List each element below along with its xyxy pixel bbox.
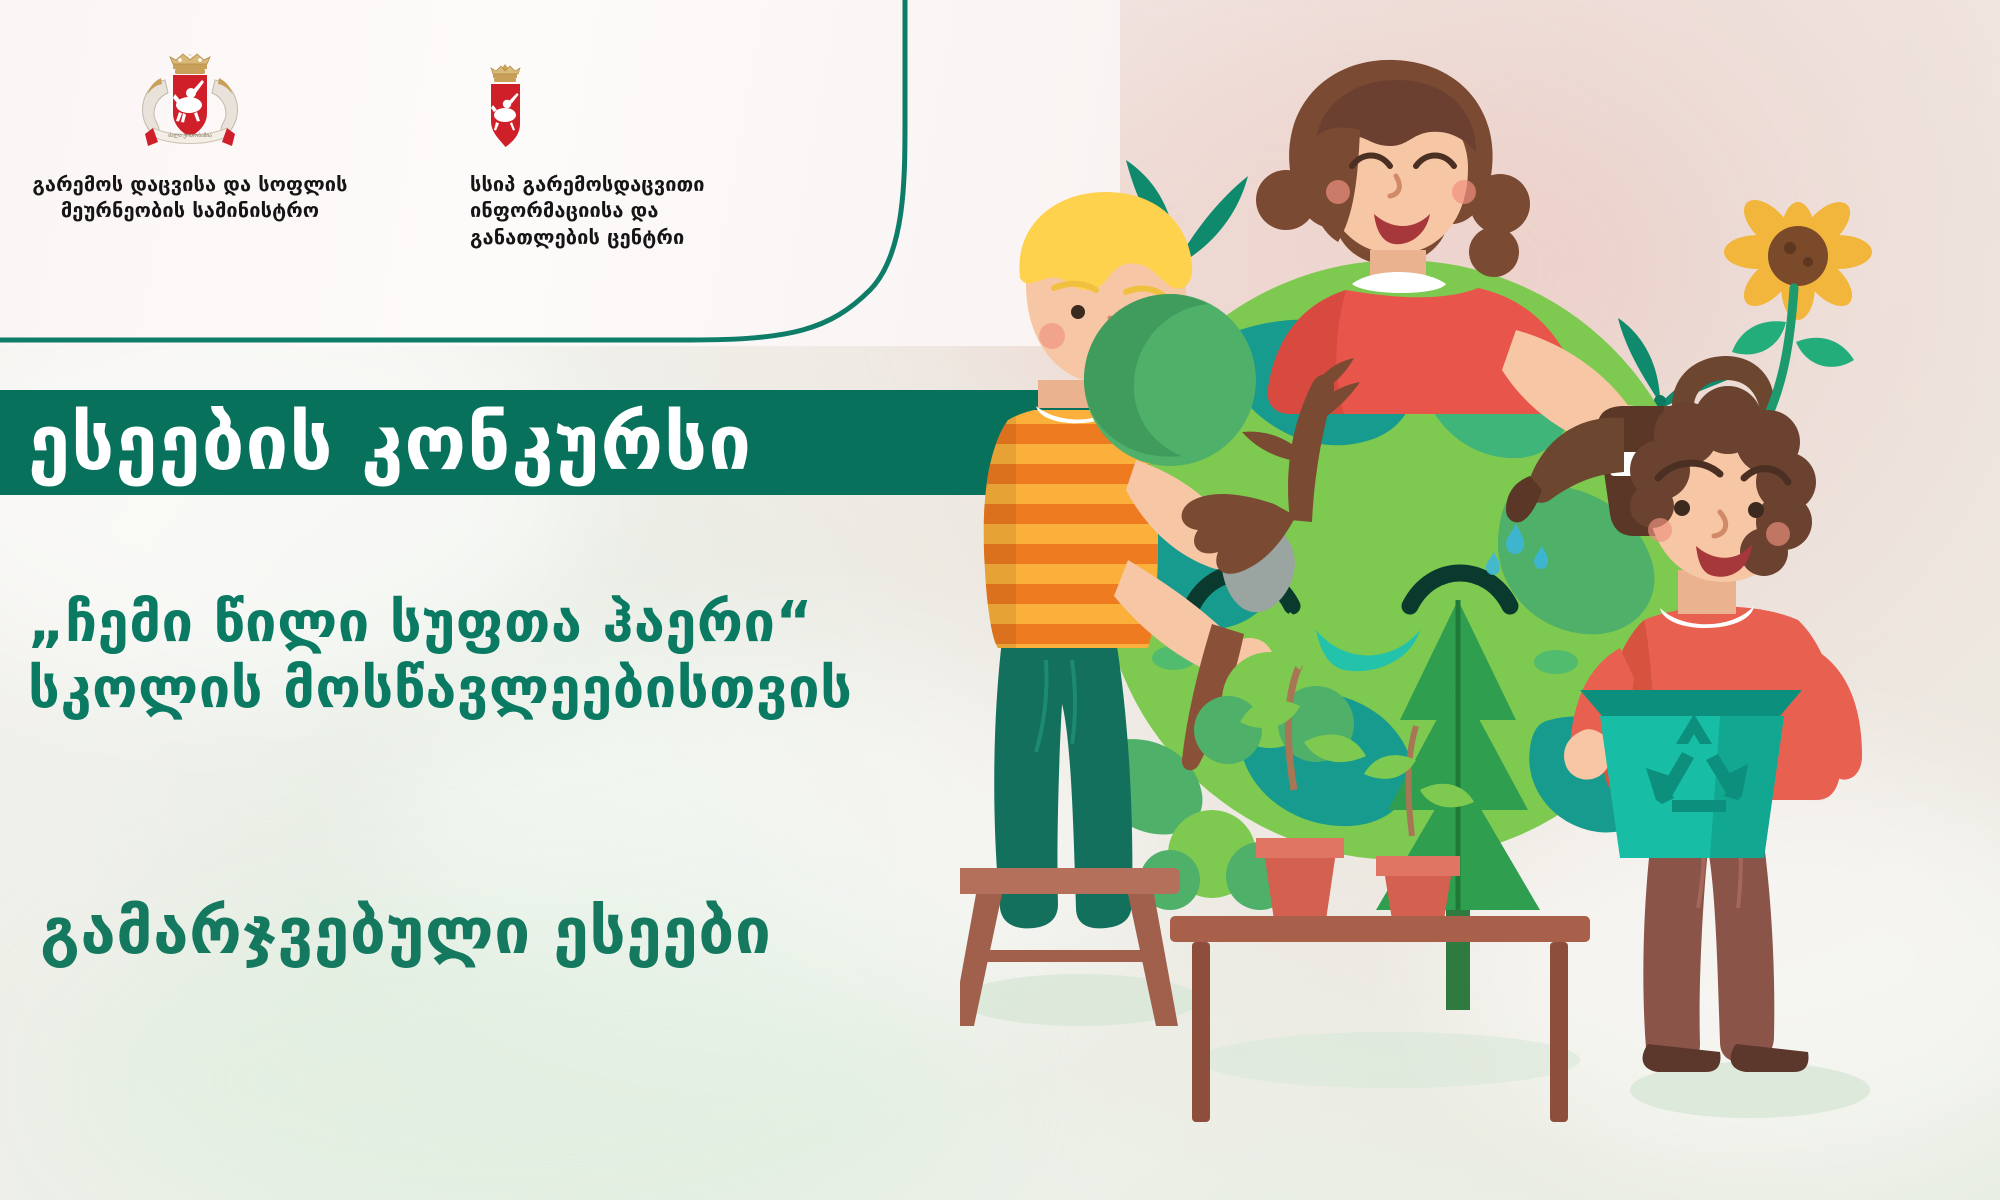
wooden-table bbox=[1170, 916, 1590, 1122]
round-tree-icon bbox=[1084, 294, 1256, 466]
boy-recycling-eye-left bbox=[1674, 500, 1690, 516]
logo-center-line-2: ინფორმაციისა და bbox=[470, 197, 800, 223]
girl-blush-left bbox=[1326, 180, 1350, 204]
boy-recycling-blush-right bbox=[1766, 522, 1790, 546]
girl-hair-bun-left bbox=[1256, 170, 1316, 230]
logo-center: სსიპ გარემოსდაცვითი ინფორმაციისა და განა… bbox=[470, 62, 800, 250]
boy-planting-hair bbox=[1019, 192, 1192, 290]
sunflower-leaf-left bbox=[1732, 321, 1786, 354]
logo-ministry-line-2: მეურნეობის სამინისტრო bbox=[30, 197, 350, 223]
girl-hair-bun-right-2 bbox=[1469, 227, 1519, 277]
logo-ministry-line-1: გარემოს დაცვისა და სოფლის bbox=[30, 171, 350, 197]
girl-hair-bun-right bbox=[1470, 174, 1530, 234]
boy-recycling-shoe-right bbox=[1731, 1044, 1809, 1072]
logo-center-line-1: სსიპ გარემოსდაცვითი bbox=[470, 171, 800, 197]
georgia-shield-emblem-icon bbox=[478, 62, 533, 157]
girl-blush-right bbox=[1452, 180, 1476, 204]
svg-text:ძალა ერთობაშია: ძალა ერთობაშია bbox=[168, 132, 212, 139]
title-banner: ესეების კონკურსი bbox=[0, 390, 1124, 495]
boy-recycling-blush-left bbox=[1648, 518, 1672, 542]
logo-ministry-text: გარემოს დაცვისა და სოფლის მეურნეობის სამ… bbox=[30, 171, 350, 224]
boy-recycling-eye-right bbox=[1748, 502, 1764, 518]
georgia-coat-of-arms-icon: ძალა ერთობაშია bbox=[125, 50, 255, 155]
recycling-bin-icon bbox=[1580, 690, 1802, 858]
logo-center-line-3: განათლების ცენტრი bbox=[470, 224, 800, 250]
subtitle-line-1: „ჩემი წილი სუფთა ჰაერი“ bbox=[28, 590, 813, 655]
boy-blush-left bbox=[1039, 323, 1065, 349]
logo-ministry: ძალა ერთობაშია გარემოს დაცვისა და სოფლის… bbox=[30, 50, 350, 224]
boy-recycling-shoe-left bbox=[1643, 1044, 1721, 1072]
logo-center-text: სსიპ გარემოსდაცვითი ინფორმაციისა და განა… bbox=[470, 171, 800, 250]
illustration-children-caring-for-earth bbox=[960, 0, 2000, 1200]
sunflower-stem bbox=[1768, 288, 1794, 416]
boy-eye-left bbox=[1071, 305, 1085, 319]
earth-blush-right bbox=[1534, 650, 1578, 674]
poster-canvas: ძალა ერთობაშია გარემოს დაცვისა და სოფლის… bbox=[0, 0, 2000, 1200]
shadow-table bbox=[1200, 1032, 1580, 1088]
title-banner-text: ესეების კონკურსი bbox=[0, 405, 752, 481]
sunflower-leaf-right bbox=[1796, 338, 1854, 367]
